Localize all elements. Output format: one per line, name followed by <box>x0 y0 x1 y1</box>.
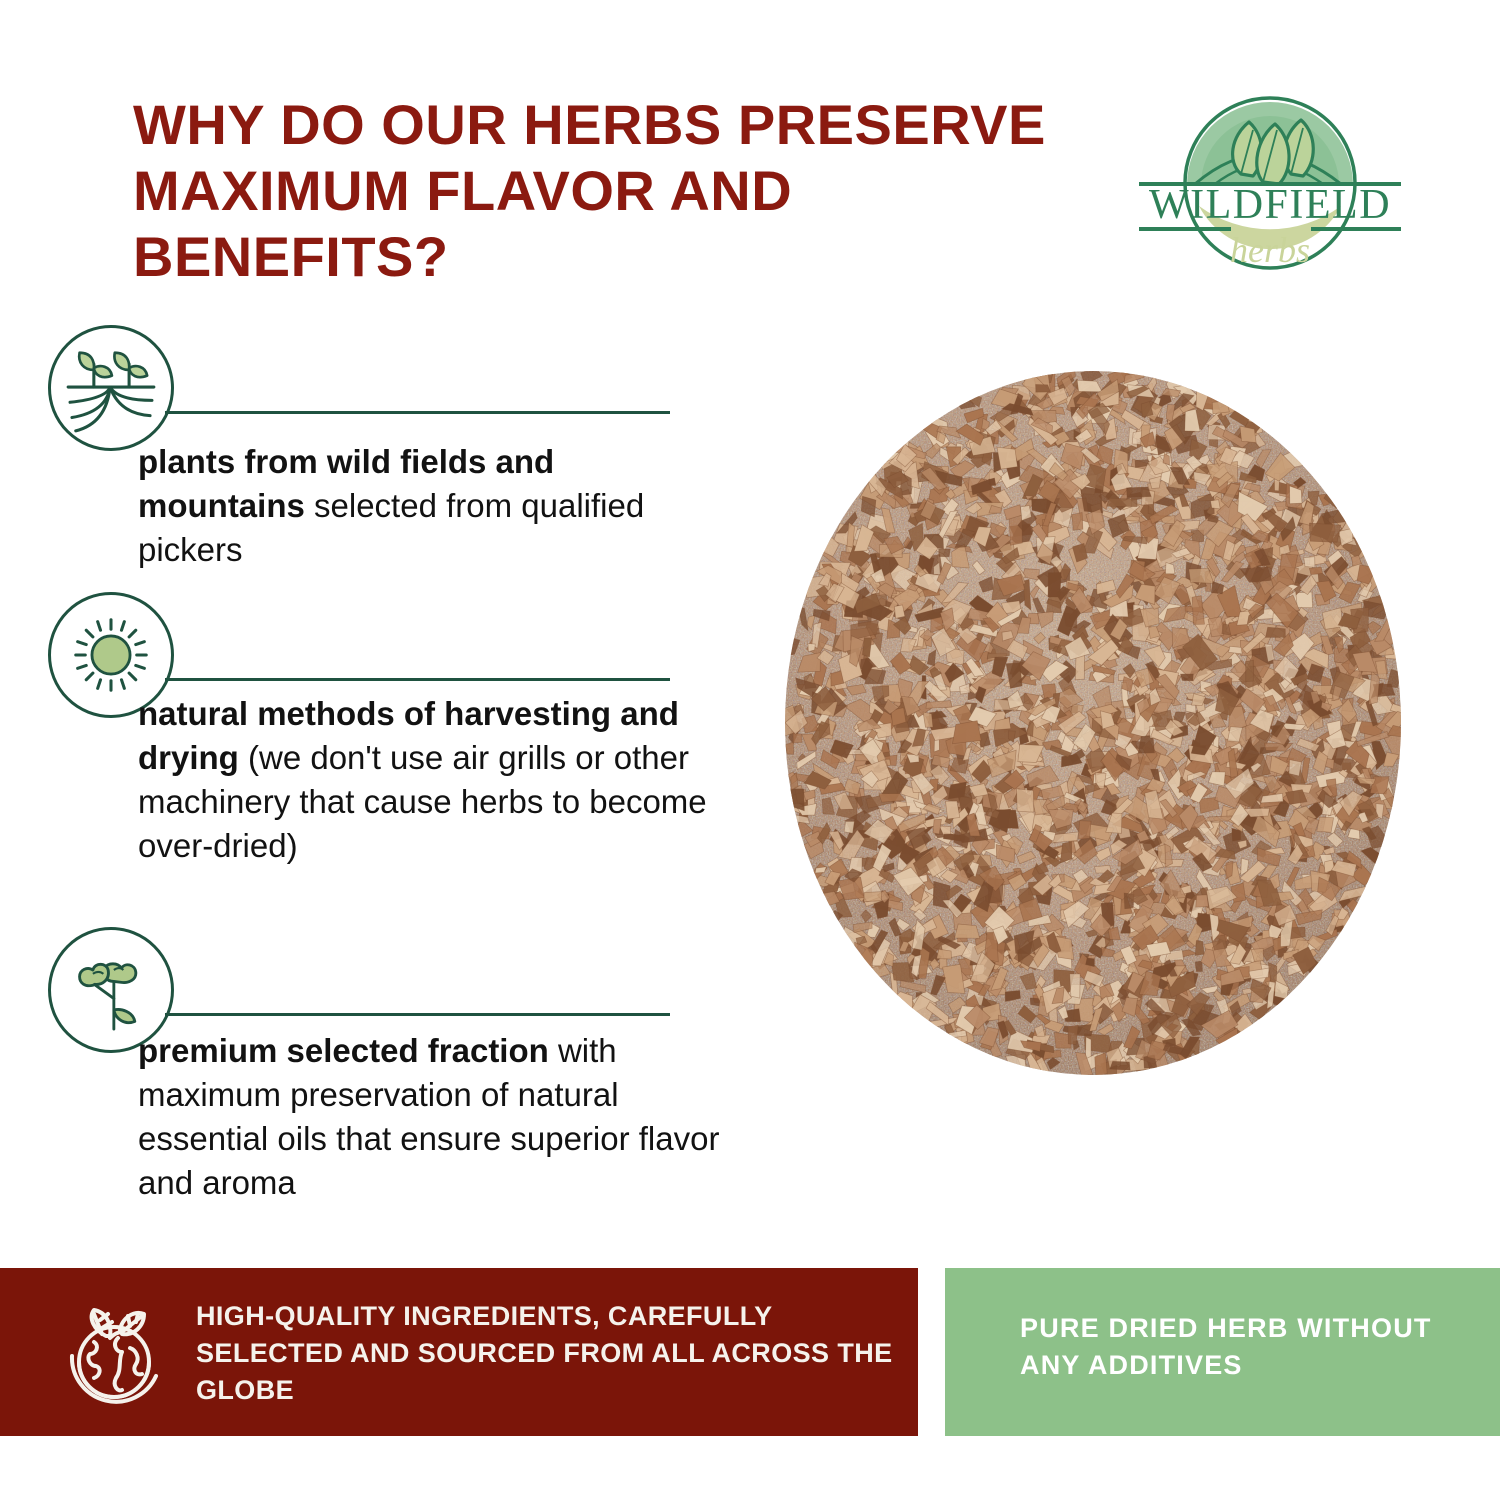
feature-text: plants from wild fields and mountains se… <box>138 440 718 572</box>
feature-header <box>0 927 720 1039</box>
feature-header <box>0 325 720 437</box>
field-sprout-icon <box>48 325 174 451</box>
globe-leaf-icon <box>60 1296 172 1408</box>
feature-text: premium selected fraction with maximum p… <box>138 1029 748 1205</box>
product-image-dried-herb-pile <box>783 363 1403 1078</box>
banner-text: High-quality ingredients, carefully sele… <box>196 1298 896 1409</box>
feature-divider <box>165 1013 670 1016</box>
logo-tagline-text: herbs <box>1230 230 1310 270</box>
banner-pure-dried-herb: Pure dried herb without any additives <box>945 1268 1500 1436</box>
feature-item-premium-fraction: premium selected fraction with maximum p… <box>0 927 720 1039</box>
logo-brand-text: WILDFIELD <box>1149 182 1391 228</box>
brand-logo: WILDFIELD herbs <box>1115 78 1425 293</box>
feature-divider <box>165 678 670 681</box>
banner-text: Pure dried herb without any additives <box>1020 1310 1460 1384</box>
feature-text-bold: premium selected fraction <box>138 1032 549 1069</box>
feature-item-natural-methods: natural methods of harvesting and drying… <box>0 592 720 704</box>
page-title: Why do our herbs preserve maximum flavor… <box>133 92 1063 290</box>
banner-high-quality-ingredients: High-quality ingredients, carefully sele… <box>0 1268 918 1436</box>
feature-header <box>0 592 720 704</box>
feature-item-wild-fields: plants from wild fields and mountains se… <box>0 325 720 437</box>
feature-text: natural methods of harvesting and drying… <box>138 692 718 868</box>
feature-divider <box>165 411 670 414</box>
